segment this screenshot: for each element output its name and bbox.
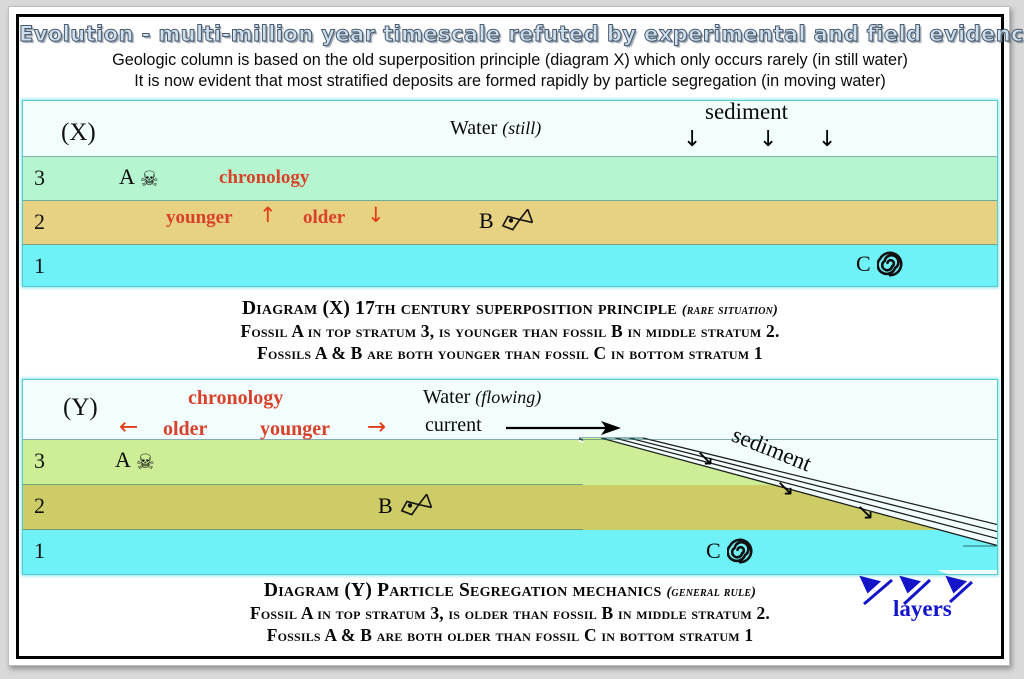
caption-y-note: (general rule) [667, 585, 757, 600]
stratum-3-y [23, 440, 997, 485]
stratum-divider [23, 244, 997, 245]
layers-label: layers [893, 596, 952, 622]
younger-label-y: younger [260, 418, 330, 441]
fish-icon [499, 209, 533, 233]
younger-arrow-icon-x: ↑ [259, 205, 277, 226]
stratum-divider [23, 484, 583, 485]
sediment-arrow-icon: ↓ [818, 129, 836, 151]
chronology-label-x: chronology [219, 167, 309, 189]
fossil-a-letter: A [115, 447, 131, 472]
fossil-a-y: A☠ [115, 447, 155, 474]
older-label-x: older [303, 207, 345, 229]
stratum-number-2: 2 [34, 493, 45, 519]
stratum-1-x [23, 245, 997, 287]
diagram-y-panel: (Y) chronology ← older younger → Water (… [22, 379, 998, 575]
diagram-x-panel: (X) Water (still) sediment ↓ ↓ ↓ 3 2 1 A… [22, 100, 998, 287]
sediment-arrow-icon: ↓ [759, 129, 777, 151]
fossil-c-y: C [706, 538, 753, 564]
caption-x-title-row: Diagram (X) 17th century superposition p… [19, 298, 1001, 320]
stratum-number-3: 3 [34, 165, 45, 191]
water-state: (flowing) [475, 387, 541, 407]
fossil-a-letter: A [119, 164, 135, 189]
caption-y-line-2: Fossil A in top stratum 3, is older than… [19, 603, 1001, 624]
older-label-y: older [163, 418, 207, 441]
stratum-number-2: 2 [34, 209, 45, 235]
sediment-label-x: sediment [705, 100, 788, 125]
stratum-2-y [23, 485, 997, 530]
stratum-1-y [23, 530, 997, 575]
caption-x-line-3: Fossils A & B are both younger than foss… [19, 343, 1001, 364]
diagram-y-tag: (Y) [63, 394, 98, 422]
water-still-label: Water (still) [450, 117, 541, 140]
fossil-c-x: C [856, 251, 903, 277]
header: Evolution - multi-million year timescale… [19, 17, 1001, 95]
fish-icon [398, 494, 432, 518]
sediment-arrow-icon: ↓ [683, 129, 701, 151]
fossil-c-letter: C [856, 251, 871, 276]
caption-x-note: (rare situation) [682, 303, 778, 318]
stratum-divider [23, 529, 583, 530]
water-flowing-label: Water (flowing) [423, 386, 541, 409]
current-label: current [425, 414, 482, 437]
ammonite-spiral-icon [727, 538, 753, 564]
water-state: (still) [502, 118, 541, 138]
caption-y-line-3: Fossils A & B are both older than fossil… [19, 625, 1001, 646]
caption-x-line-2: Fossil A in top stratum 3, is younger th… [19, 321, 1001, 342]
older-arrow-icon-y: ← [119, 416, 138, 439]
stratum-divider [23, 156, 997, 157]
page-title: Evolution - multi-million year timescale… [19, 22, 1001, 46]
skull-and-crossbones-icon: ☠ [140, 167, 159, 191]
stratum-divider [23, 200, 997, 201]
poster-root: Evolution - multi-million year timescale… [0, 0, 1024, 679]
older-arrow-icon-x: ↓ [367, 205, 385, 226]
caption-y-title: Diagram (Y) Particle Segregation mechani… [264, 580, 662, 601]
stratum-number-1: 1 [34, 253, 45, 279]
younger-arrow-icon-y: → [367, 416, 386, 439]
chronology-label-y: chronology [188, 387, 283, 410]
ammonite-spiral-icon [877, 251, 903, 277]
subtitle-line-2: It is now evident that most stratified d… [26, 72, 993, 91]
diagram-x-tag: (X) [61, 119, 96, 147]
stratum-divider [23, 439, 997, 440]
stratum-number-1: 1 [34, 538, 45, 564]
water-word: Water [423, 386, 470, 408]
current-arrow-icon [506, 418, 621, 438]
fossil-c-letter: C [706, 538, 721, 563]
sediment-arrow-icon: ↘ [776, 478, 794, 500]
fossil-b-letter: B [378, 493, 393, 518]
fossil-a-x: A☠ [119, 164, 159, 191]
younger-label-x: younger [166, 207, 233, 229]
stratum-number-3: 3 [34, 448, 45, 474]
caption-x-title: Diagram (X) 17th century superposition p… [242, 298, 677, 319]
skull-and-crossbones-icon: ☠ [136, 450, 155, 474]
fossil-b-letter: B [479, 208, 494, 233]
subtitle-line-1: Geologic column is based on the old supe… [26, 51, 993, 70]
stratum-3-x [23, 157, 997, 201]
caption-diagram-x: Diagram (X) 17th century superposition p… [19, 298, 1001, 364]
fossil-b-x: B [479, 208, 533, 234]
water-word: Water [450, 117, 497, 139]
sediment-arrow-icon: ↘ [696, 448, 714, 470]
fossil-b-y: B [378, 493, 432, 519]
sediment-arrow-icon: ↘ [856, 502, 874, 524]
